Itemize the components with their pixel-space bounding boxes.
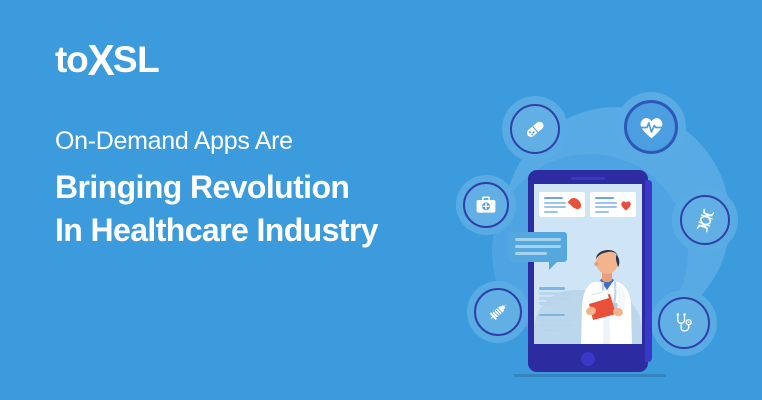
- chat-bubble-tail: [549, 261, 558, 270]
- phone-speaker: [571, 177, 605, 180]
- page-title: Bringing Revolution In Healthcare Indust…: [55, 166, 485, 251]
- stethoscope-icon: [658, 297, 710, 349]
- smartphone-mockup: [528, 170, 648, 372]
- headline-block: On-Demand Apps Are Bringing Revolution I…: [55, 126, 485, 251]
- first-aid-kit-icon: [463, 182, 509, 228]
- phone-side-edge: [645, 180, 652, 362]
- doctor-illustration: [578, 238, 636, 344]
- chat-bubble: [509, 232, 567, 262]
- card-text-lines: [544, 197, 566, 215]
- headline-kicker: On-Demand Apps Are: [55, 126, 485, 157]
- healthcare-illustration: [452, 92, 762, 400]
- syringe-icon: [474, 288, 522, 336]
- phone-home-button: [581, 352, 595, 366]
- brand-logo-to: to: [55, 39, 88, 80]
- brand-logo-text: toXSL: [55, 38, 159, 79]
- card-text-lines: [595, 197, 617, 215]
- blood-drop-icon: [568, 196, 584, 212]
- screen-card-heart: [590, 192, 636, 217]
- pill-icon: [510, 104, 560, 154]
- heart-icon: [620, 198, 632, 209]
- brand-logo-sl: SL: [113, 39, 159, 80]
- brand-logo-x: X: [88, 38, 113, 81]
- dna-icon: [680, 195, 730, 245]
- promotional-banner: toXSL On-Demand Apps Are Bringing Revolu…: [0, 0, 762, 400]
- screen-card-blood: [539, 192, 585, 217]
- phone-shadow: [514, 374, 666, 377]
- brand-logo[interactable]: toXSL: [55, 38, 159, 78]
- headline-line-2: In Healthcare Industry: [55, 209, 485, 252]
- headline-line-1: Bringing Revolution: [55, 166, 485, 209]
- heartbeat-icon: [624, 100, 678, 154]
